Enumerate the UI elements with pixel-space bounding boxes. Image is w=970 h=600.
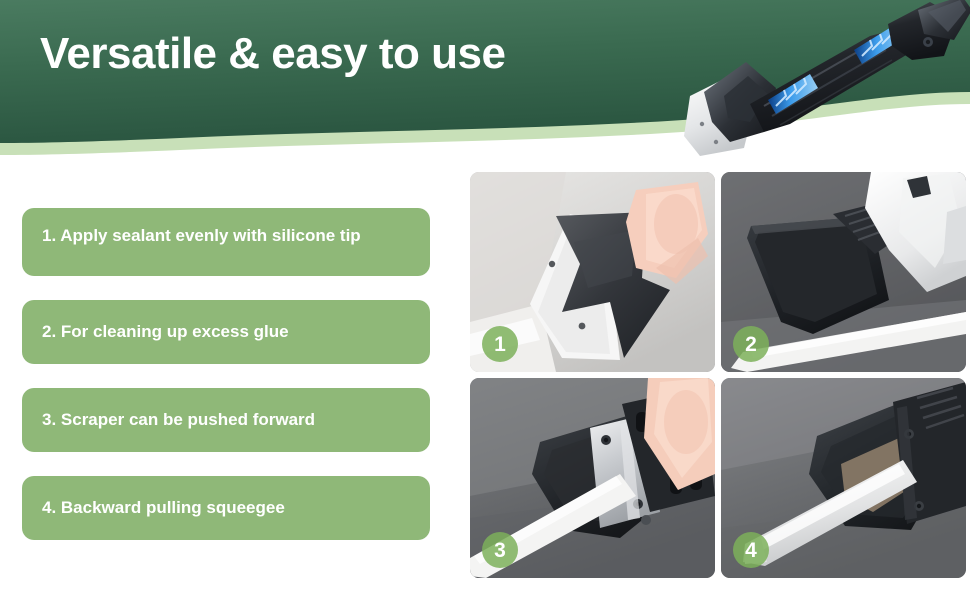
feature-label-4: 4. Backward pulling squeegee <box>42 496 285 519</box>
feature-bar-3[interactable]: 3. Scraper can be pushed forward <box>22 388 430 452</box>
page-title: Versatile & easy to use <box>40 29 505 80</box>
step-panel-4[interactable]: 4 <box>721 378 966 578</box>
step-badge-1: 1 <box>482 326 518 362</box>
step-panel-3[interactable]: 3 <box>470 378 715 578</box>
step-badge-4: 4 <box>733 532 769 568</box>
feature-label-3: 3. Scraper can be pushed forward <box>42 408 315 431</box>
step-badge-3: 3 <box>482 532 518 568</box>
feature-bar-1[interactable]: 1. Apply sealant evenly with silicone ti… <box>22 208 430 276</box>
product-tool-image <box>672 0 970 164</box>
step-panel-1[interactable]: 1 <box>470 172 715 372</box>
step-badge-2: 2 <box>733 326 769 362</box>
feature-label-2: 2. For cleaning up excess glue <box>42 320 289 343</box>
feature-label-1: 1. Apply sealant evenly with silicone ti… <box>42 224 361 247</box>
feature-list: 1. Apply sealant evenly with silicone ti… <box>22 208 430 540</box>
step-panel-2[interactable]: 2 <box>721 172 966 372</box>
step-image-grid: 1 <box>470 172 966 587</box>
feature-bar-4[interactable]: 4. Backward pulling squeegee <box>22 476 430 540</box>
feature-bar-2[interactable]: 2. For cleaning up excess glue <box>22 300 430 364</box>
product-feature-infographic: Versatile & easy to use <box>0 0 970 600</box>
